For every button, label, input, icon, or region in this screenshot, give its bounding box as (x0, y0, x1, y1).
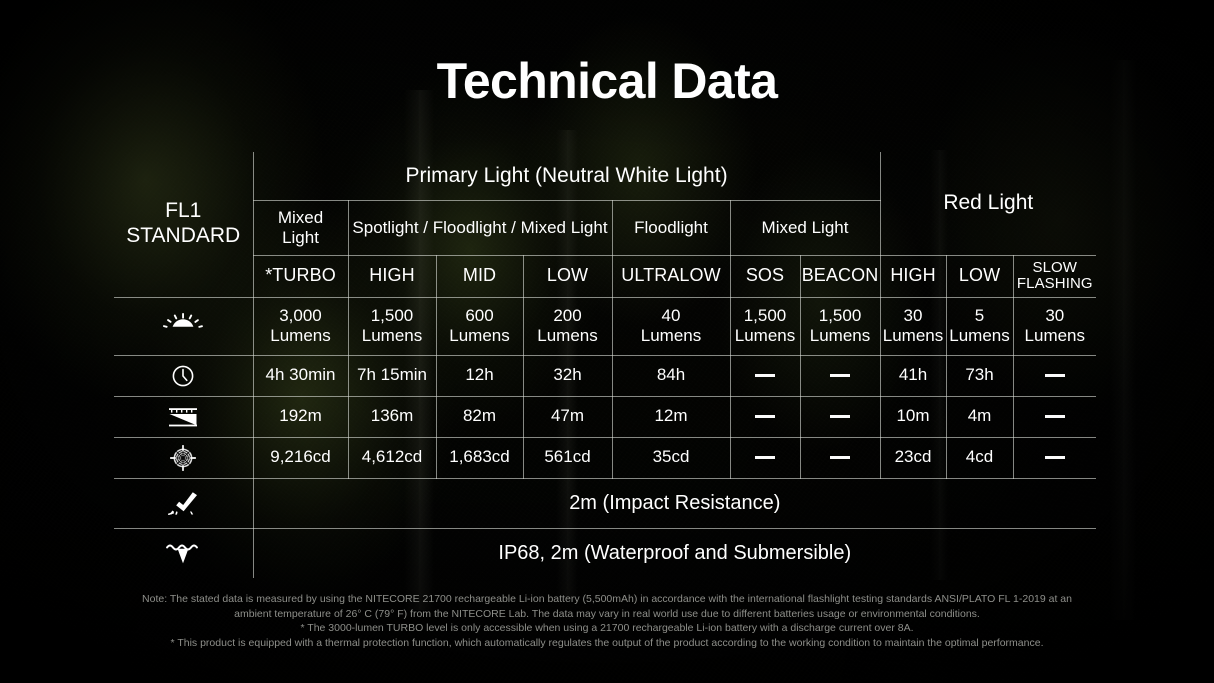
footnote-line-4: * This product is equipped with a therma… (0, 636, 1214, 651)
mode-header-line1: SLOW (1014, 260, 1097, 276)
cell-runtime-mid: 12h (436, 355, 523, 396)
cell-runtime-red-low: 73h (946, 355, 1013, 396)
table-row: 4h 30min 7h 15min 12h 32h 84h 41h 73h (114, 355, 1096, 396)
cell-intensity-red-slow-flashing (1013, 437, 1096, 478)
cell-lumens-red-high: 30Lumens (880, 297, 946, 355)
row-icon-peak-beam-intensity (114, 437, 253, 478)
sub-header-floodlight: Floodlight (612, 200, 730, 255)
sub-header-mixed-light: Mixed Light (730, 200, 880, 255)
technical-data-table: FL1 STANDARD Primary Light (Neutral Whit… (114, 152, 1096, 578)
table-row: 2m (Impact Resistance) (114, 478, 1096, 528)
cell-lumens-sos: 1,500Lumens (730, 297, 800, 355)
group-header-red-light: Red Light (880, 152, 1096, 255)
cell-distance-red-low: 4m (946, 396, 1013, 437)
cell-intensity-turbo: 9,216cd (253, 437, 348, 478)
cell-distance-beacon (800, 396, 880, 437)
cell-runtime-red-high: 41h (880, 355, 946, 396)
cell-runtime-beacon (800, 355, 880, 396)
fl1-standard-line1: FL1 (114, 199, 253, 224)
cell-distance-turbo: 192m (253, 396, 348, 437)
cell-distance-sos (730, 396, 800, 437)
cell-runtime-low: 32h (523, 355, 612, 396)
mode-header-beacon: BEACON (800, 255, 880, 297)
technical-data-page: Technical Data FL1 STANDARD Primary Ligh… (0, 0, 1214, 683)
row-icon-runtime (114, 355, 253, 396)
clock-icon (114, 356, 253, 396)
cell-intensity-mid: 1,683cd (436, 437, 523, 478)
cell-intensity-ultralow: 35cd (612, 437, 730, 478)
cell-runtime-red-slow-flashing (1013, 355, 1096, 396)
table-row: IP68, 2m (Waterproof and Submersible) (114, 528, 1096, 578)
footnote-line-2: ambient temperature of 26° C (79° F) fro… (0, 607, 1214, 622)
mode-header-high: HIGH (348, 255, 436, 297)
cell-distance-red-high: 10m (880, 396, 946, 437)
sub-header-mixed-light-turbo: Mixed Light (253, 200, 348, 255)
cell-intensity-sos (730, 437, 800, 478)
cell-runtime-turbo: 4h 30min (253, 355, 348, 396)
table-header-group-row: FL1 STANDARD Primary Light (Neutral Whit… (114, 152, 1096, 200)
row-icon-waterproof (114, 528, 253, 578)
peak-beam-intensity-icon (114, 438, 253, 478)
cell-lumens-red-low: 5Lumens (946, 297, 1013, 355)
cell-distance-mid: 82m (436, 396, 523, 437)
cell-lumens-turbo: 3,000Lumens (253, 297, 348, 355)
table-header-mode-row: *TURBO HIGH MID LOW ULTRALOW SOS BEACON … (114, 255, 1096, 297)
cell-intensity-red-high: 23cd (880, 437, 946, 478)
sub-header-line1: Mixed (254, 208, 348, 227)
cell-runtime-ultralow: 84h (612, 355, 730, 396)
mode-header-mid: MID (436, 255, 523, 297)
cell-lumens-red-slow-flashing: 30Lumens (1013, 297, 1096, 355)
cell-intensity-high: 4,612cd (348, 437, 436, 478)
cell-runtime-sos (730, 355, 800, 396)
mode-header-low: LOW (523, 255, 612, 297)
sub-header-line2: Light (254, 228, 348, 247)
waterproof-icon (114, 529, 253, 579)
mode-header-line2: FLASHING (1014, 276, 1097, 292)
mode-header-turbo: *TURBO (253, 255, 348, 297)
beam-distance-icon (114, 397, 253, 437)
mode-header-ultralow: ULTRALOW (612, 255, 730, 297)
cell-lumens-low: 200Lumens (523, 297, 612, 355)
mode-header-red-slow-flashing: SLOW FLASHING (1013, 255, 1096, 297)
cell-lumens-ultralow: 40Lumens (612, 297, 730, 355)
footnote-line-1: Note: The stated data is measured by usi… (0, 592, 1214, 607)
waterproof-value: IP68, 2m (Waterproof and Submersible) (253, 528, 1096, 578)
table-row: 3,000Lumens 1,500Lumens 600Lumens 200Lum… (114, 297, 1096, 355)
cell-intensity-red-low: 4cd (946, 437, 1013, 478)
fl1-standard-label: FL1 STANDARD (114, 152, 253, 297)
table-row: 9,216cd 4,612cd 1,683cd 561cd 35cd 23cd … (114, 437, 1096, 478)
group-header-primary-light: Primary Light (Neutral White Light) (253, 152, 880, 200)
cell-lumens-mid: 600Lumens (436, 297, 523, 355)
cell-distance-high: 136m (348, 396, 436, 437)
cell-distance-low: 47m (523, 396, 612, 437)
cell-lumens-beacon: 1,500Lumens (800, 297, 880, 355)
impact-resistance-icon (114, 479, 253, 528)
fl1-standard-line2: STANDARD (114, 224, 253, 249)
footnote-block: Note: The stated data is measured by usi… (0, 592, 1214, 650)
footnote-line-3: * The 3000-lumen TURBO level is only acc… (0, 621, 1214, 636)
cell-intensity-beacon (800, 437, 880, 478)
sub-header-spotlight-floodlight-mixed: Spotlight / Floodlight / Mixed Light (348, 200, 612, 255)
mode-header-red-high: HIGH (880, 255, 946, 297)
cell-lumens-high: 1,500Lumens (348, 297, 436, 355)
cell-runtime-high: 7h 15min (348, 355, 436, 396)
impact-resistance-value: 2m (Impact Resistance) (253, 478, 1096, 528)
row-icon-beam-distance (114, 396, 253, 437)
cell-distance-red-slow-flashing (1013, 396, 1096, 437)
page-title: Technical Data (0, 52, 1214, 110)
table-row: 192m 136m 82m 47m 12m 10m 4m (114, 396, 1096, 437)
brightness-burst-icon (114, 298, 253, 355)
row-icon-luminous-flux (114, 297, 253, 355)
cell-distance-ultralow: 12m (612, 396, 730, 437)
mode-header-sos: SOS (730, 255, 800, 297)
mode-header-red-low: LOW (946, 255, 1013, 297)
cell-intensity-low: 561cd (523, 437, 612, 478)
row-icon-impact-resistance (114, 478, 253, 528)
